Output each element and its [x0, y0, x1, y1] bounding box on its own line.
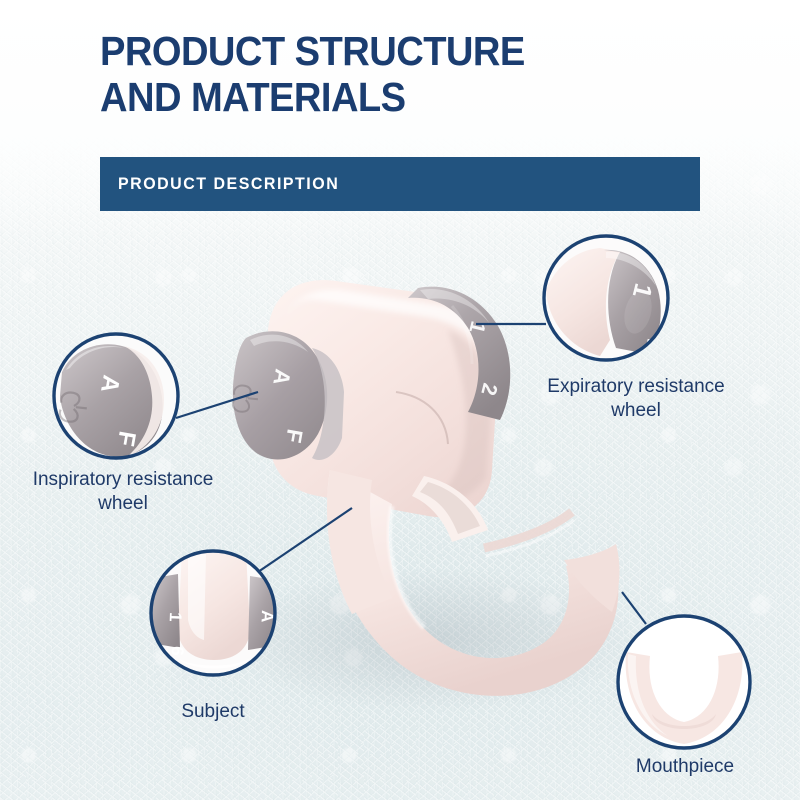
connector-mouthpiece — [622, 592, 646, 624]
infographic-page: 1 2 A F — [0, 0, 800, 800]
callout-label-subject: Subject — [128, 700, 298, 724]
callout-circle-mouthpiece — [618, 616, 750, 748]
callout-circle-expiratory: 1 2 — [544, 236, 669, 360]
callout-circle-subject: 1 6 A 8 — [151, 551, 277, 675]
callout-circle-inspiratory: A F — [54, 334, 178, 458]
connector-subject — [258, 508, 352, 572]
svg-text:6: 6 — [168, 646, 187, 656]
connector-inspiratory — [176, 392, 258, 418]
callout-label-inspiratory-resistance-wheel: Inspiratory resistance wheel — [0, 468, 248, 516]
callout-label-mouthpiece: Mouthpiece — [600, 755, 770, 779]
callout-label-expiratory-resistance-wheel: Expiratory resistance wheel — [498, 375, 774, 423]
product-description-label: PRODUCT DESCRIPTION — [118, 174, 339, 194]
page-title: PRODUCT STRUCTURE AND MATERIALS — [100, 28, 658, 120]
svg-text:1: 1 — [166, 612, 185, 622]
product-description-banner: PRODUCT DESCRIPTION — [100, 157, 700, 211]
